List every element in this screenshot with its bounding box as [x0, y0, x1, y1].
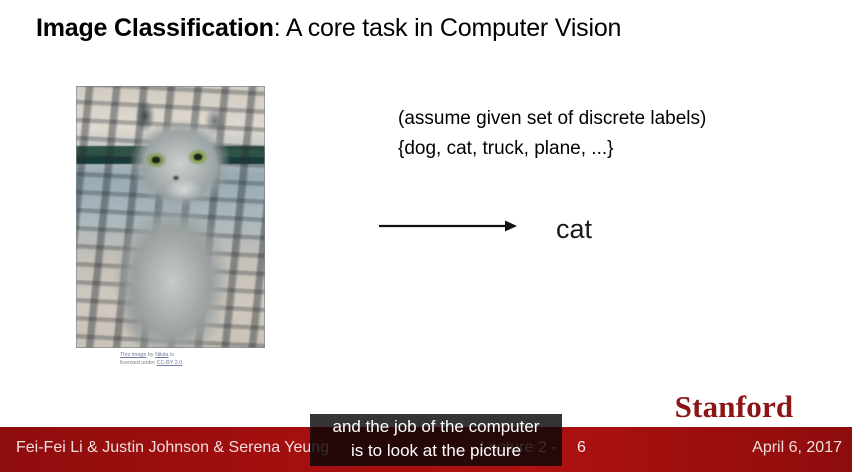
photo-attribution: This image by Nikita is licensed under C… — [120, 351, 270, 368]
prediction-label: cat — [556, 214, 592, 245]
footer-date: April 6, 2017 — [752, 439, 842, 457]
subtitle-caption: and the job of the computer is to look a… — [310, 414, 562, 466]
page-title-rest: : A core task in Computer Vision — [274, 14, 621, 42]
right-arrow-icon — [379, 219, 517, 233]
page-title: Image Classification: A core task in Com… — [36, 14, 621, 43]
watermark-line-1: Stanford — [634, 392, 834, 422]
footer-slide-number: 6 — [577, 439, 586, 457]
attribution-license-link[interactable]: CC-BY 2.0 — [157, 360, 183, 366]
label-set-text: (assume given set of discrete labels) {d… — [398, 104, 706, 164]
subtitle-line-1: and the job of the computer — [314, 415, 558, 439]
subtitle-line-2: is to look at the picture — [314, 439, 558, 463]
attribution-is: is — [170, 352, 174, 358]
label-set-line-1: (assume given set of discrete labels) — [398, 104, 706, 134]
attribution-author-link[interactable]: Nikita — [155, 352, 168, 358]
label-set-line-2: {dog, cat, truck, plane, ...} — [398, 134, 706, 164]
footer-authors: Fei-Fei Li & Justin Johnson & Serena Yeu… — [16, 439, 329, 457]
attribution-by: by — [148, 352, 154, 358]
cat-photo — [76, 86, 265, 348]
attribution-license-prefix: licensed under — [120, 360, 155, 366]
attribution-image-link[interactable]: This image — [120, 352, 146, 358]
cat-photo-image — [76, 86, 265, 348]
page-title-strong: Image Classification — [36, 14, 274, 42]
slide-canvas: Image Classification: A core task in Com… — [0, 0, 852, 472]
